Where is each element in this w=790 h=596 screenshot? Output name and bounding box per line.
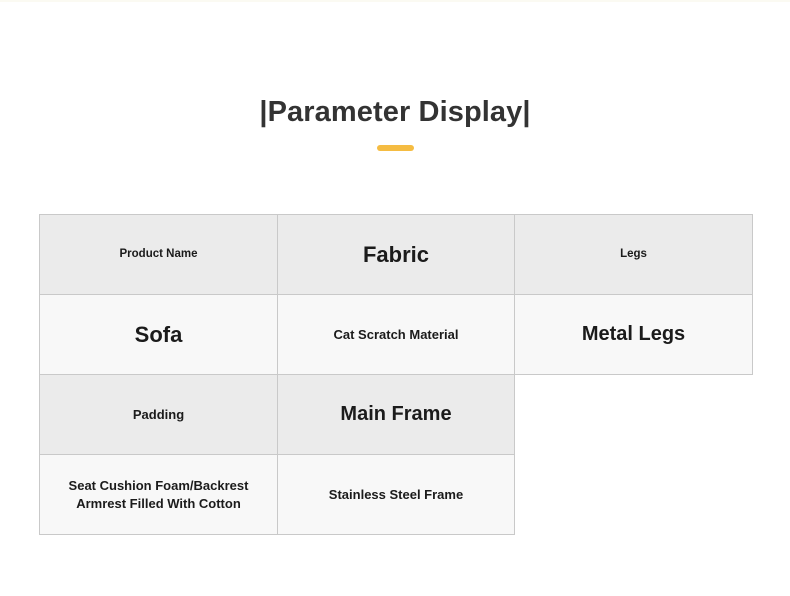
table-row: SofaCat Scratch MaterialMetal Legs [40,295,753,375]
table-data-cell: Cat Scratch Material [278,295,515,375]
table-data-cell: Seat Cushion Foam/Backrest Armrest Fille… [40,455,278,535]
table-header-cell: Padding [40,375,278,455]
table-data-cell: Metal Legs [515,295,753,375]
table-header-cell: Product Name [40,215,278,295]
table-header-cell: Main Frame [278,375,515,455]
parameter-display-page: |Parameter Display| Product NameFabricLe… [0,0,790,596]
table-row: PaddingMain Frame [40,375,753,455]
table-data-cell: Sofa [40,295,278,375]
table-header-cell: Fabric [278,215,515,295]
table-row: Product NameFabricLegs [40,215,753,295]
table-row: Seat Cushion Foam/Backrest Armrest Fille… [40,455,753,535]
parameter-table: Product NameFabricLegsSofaCat Scratch Ma… [39,214,753,535]
table-header-cell: Legs [515,215,753,295]
parameter-table-body: Product NameFabricLegsSofaCat Scratch Ma… [40,215,753,535]
top-hairline-divider [0,0,790,2]
title-accent-bar [377,145,414,151]
page-header: |Parameter Display| [0,92,790,151]
table-data-cell: Stainless Steel Frame [278,455,515,535]
page-title: |Parameter Display| [0,92,790,132]
